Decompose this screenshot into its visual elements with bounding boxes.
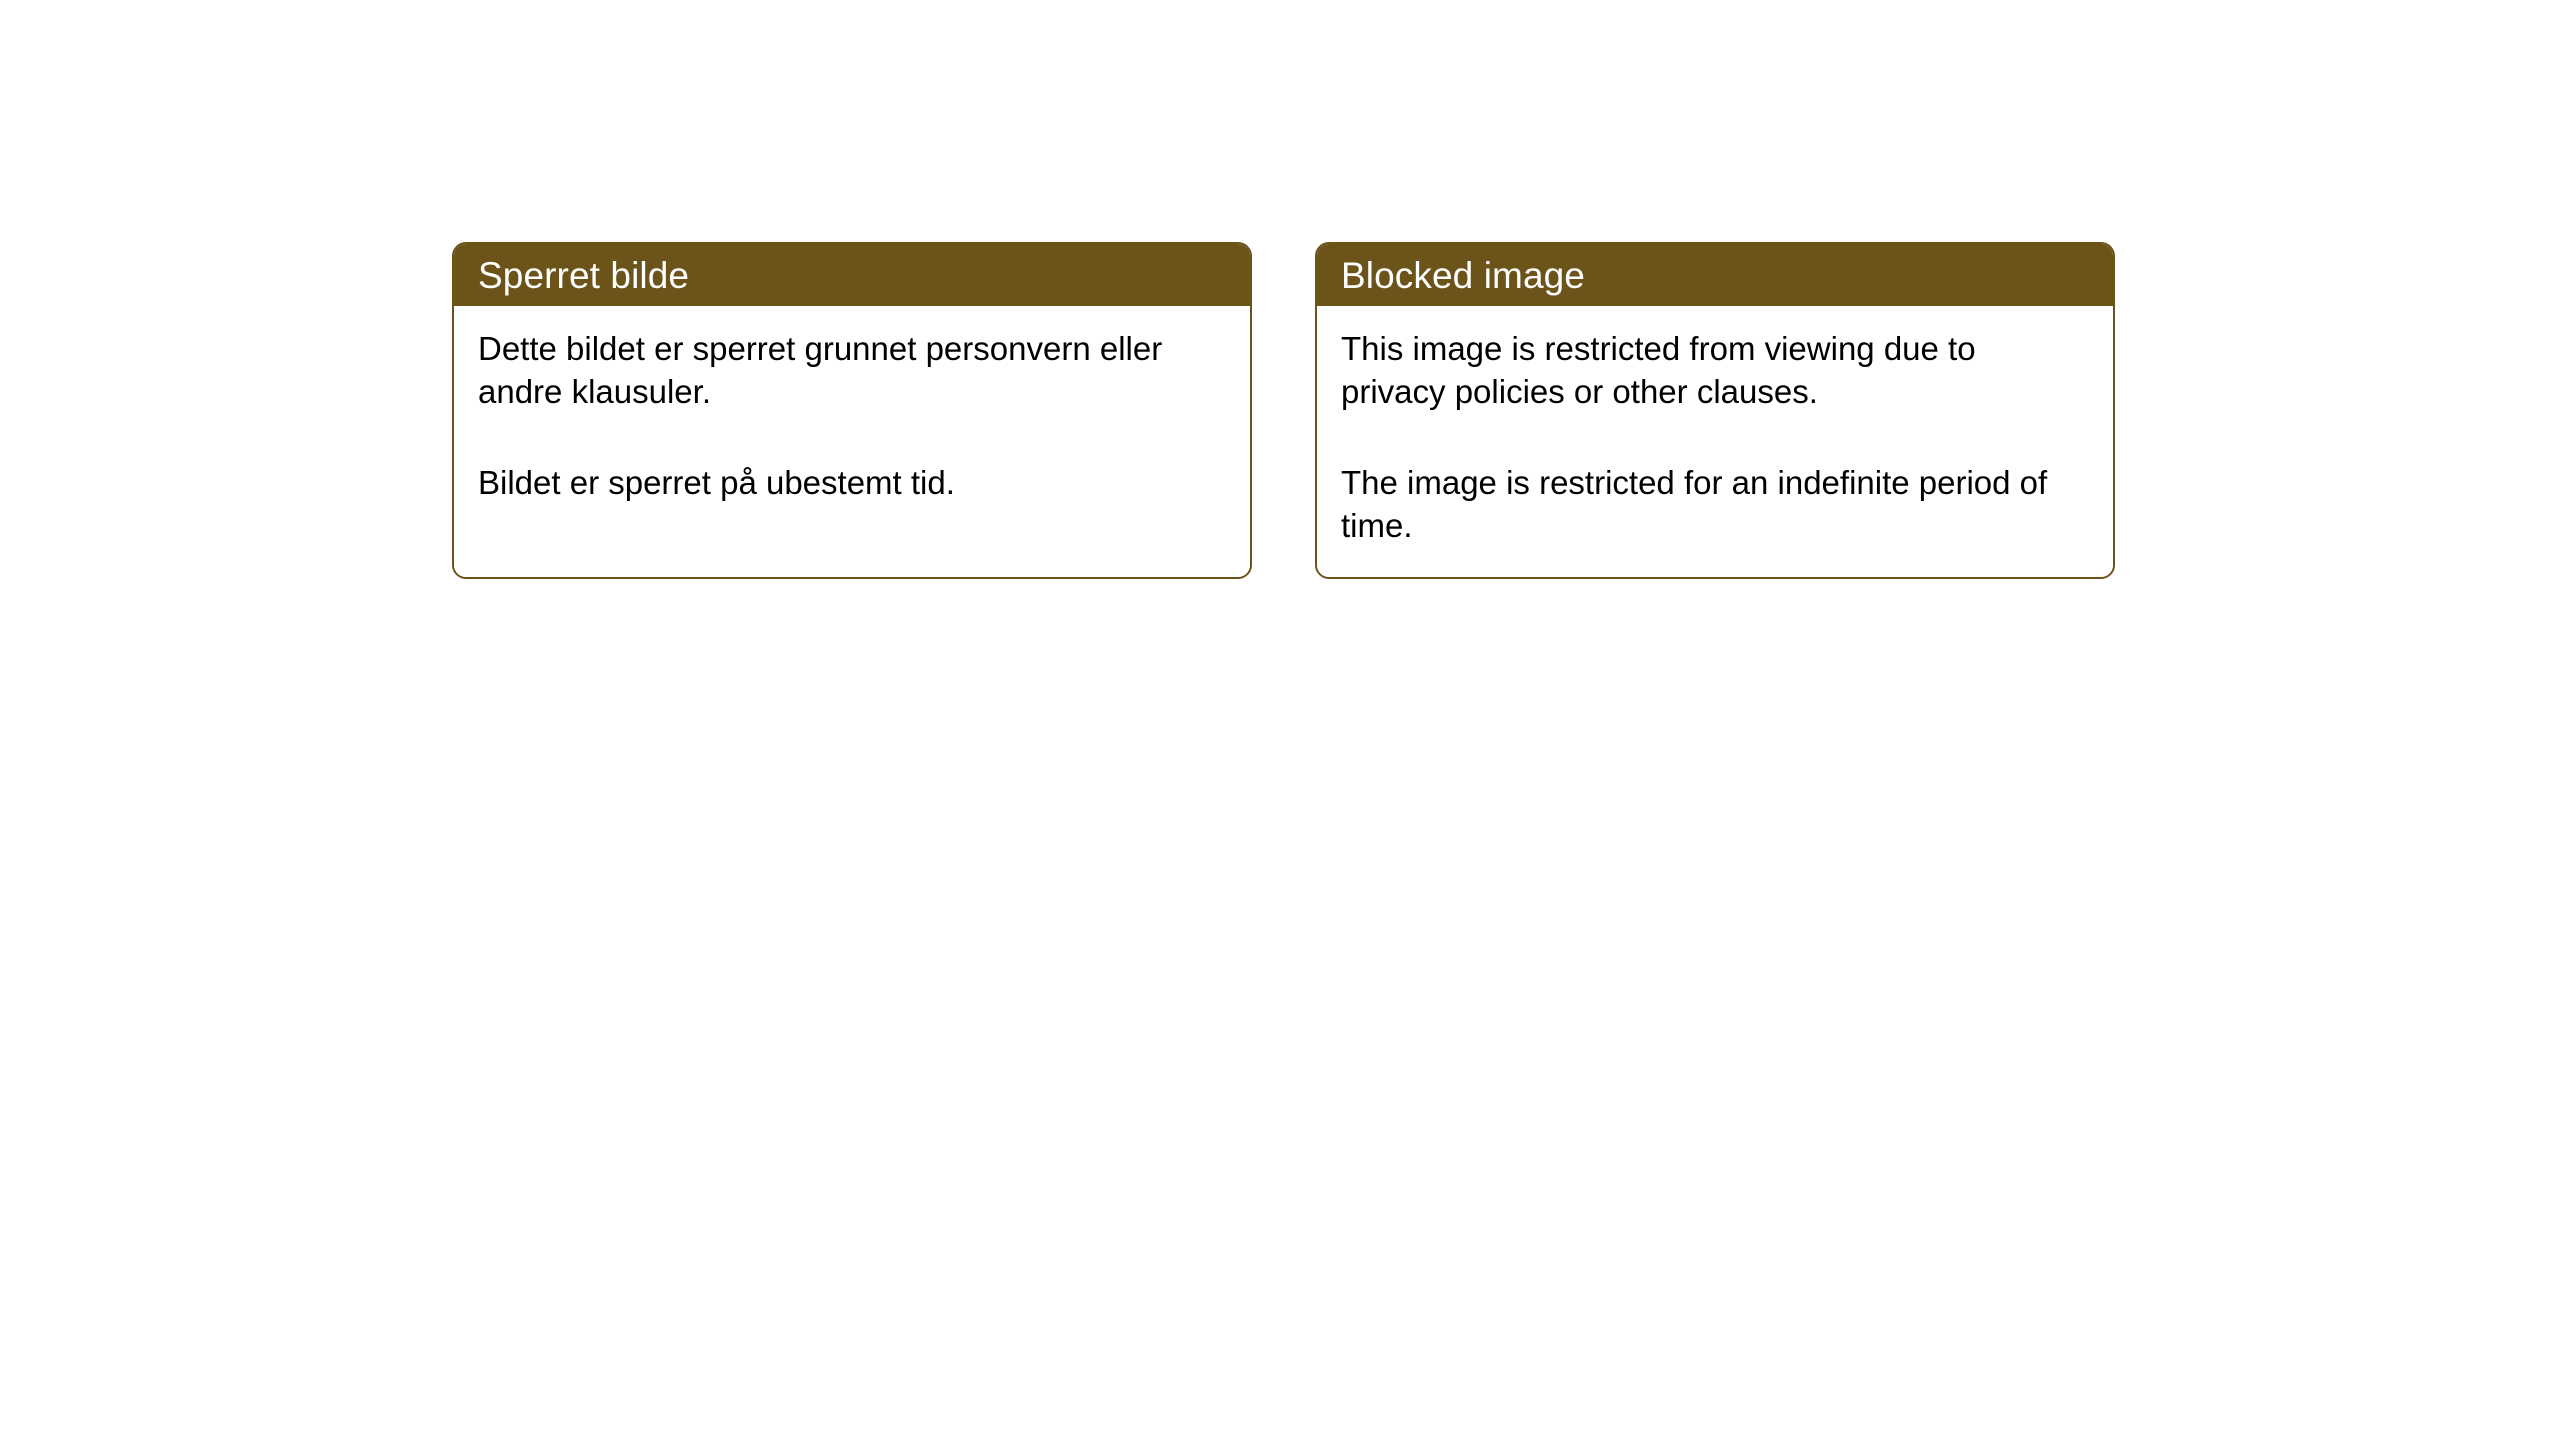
notice-card-body-english: This image is restricted from viewing du… bbox=[1317, 306, 2113, 577]
notice-card-header-english: Blocked image bbox=[1317, 244, 2113, 306]
page-canvas: Sperret bilde Dette bildet er sperret gr… bbox=[0, 0, 2560, 1440]
notice-card-header-norwegian: Sperret bilde bbox=[454, 244, 1250, 306]
notice-paragraph-reason-english: This image is restricted from viewing du… bbox=[1341, 328, 2089, 414]
blocked-image-notice-english: Blocked image This image is restricted f… bbox=[1315, 242, 2115, 579]
notice-card-body-norwegian: Dette bildet er sperret grunnet personve… bbox=[454, 306, 1250, 577]
notice-card-title-norwegian: Sperret bilde bbox=[478, 257, 689, 294]
notice-paragraph-duration-norwegian: Bildet er sperret på ubestemt tid. bbox=[478, 462, 1226, 505]
notice-card-title-english: Blocked image bbox=[1341, 257, 1585, 294]
notice-paragraph-duration-english: The image is restricted for an indefinit… bbox=[1341, 462, 2089, 548]
blocked-image-notice-norwegian: Sperret bilde Dette bildet er sperret gr… bbox=[452, 242, 1252, 579]
notice-paragraph-reason-norwegian: Dette bildet er sperret grunnet personve… bbox=[478, 328, 1226, 414]
notice-card-deck: Sperret bilde Dette bildet er sperret gr… bbox=[452, 242, 2115, 579]
